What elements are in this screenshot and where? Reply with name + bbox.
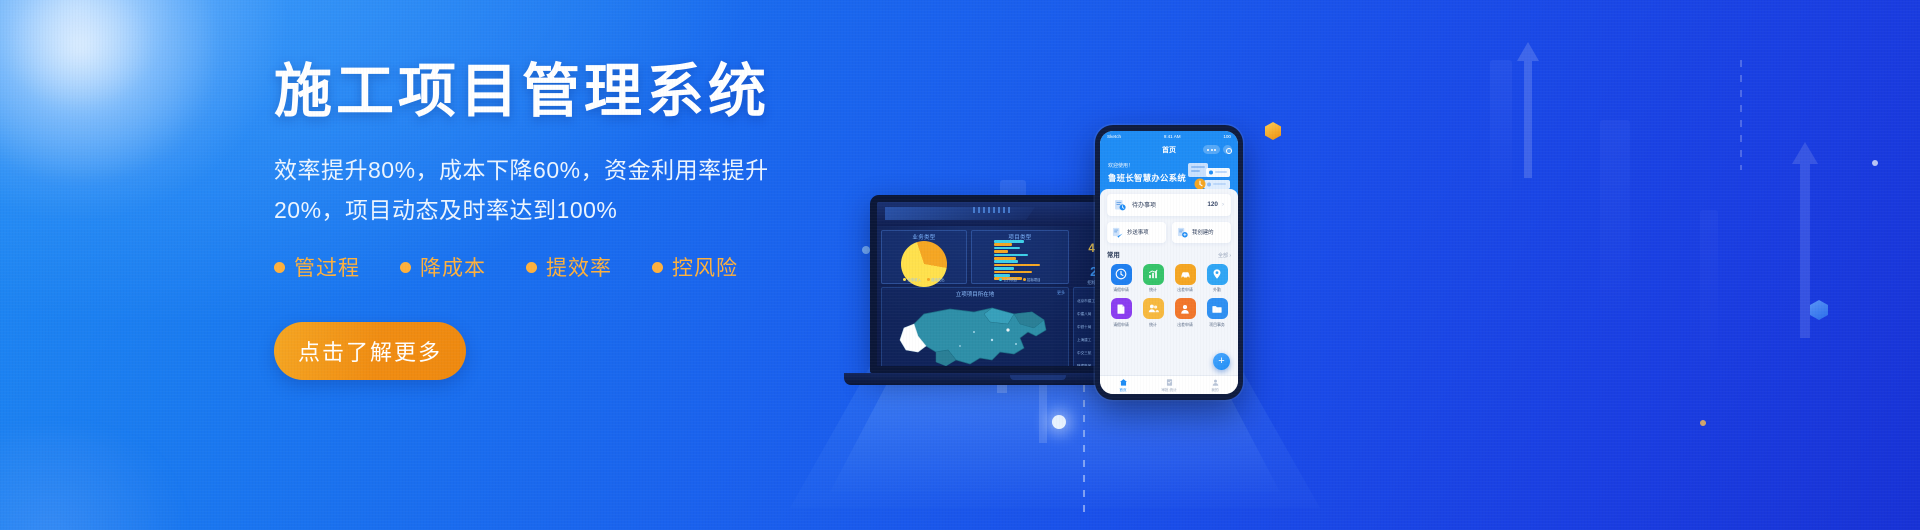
bar-legend-1: 公开项目 [1003, 278, 1017, 282]
map-title: 立项项目所在地 [882, 290, 1068, 298]
pin-icon [1207, 264, 1228, 285]
tab-approve[interactable]: 审批 统计 [1146, 378, 1192, 393]
app-tile-8[interactable]: 项目事务 [1203, 298, 1231, 328]
rank-label-5: 中交三航 [1077, 351, 1091, 356]
horizontal-bar-chart [994, 240, 1066, 280]
china-map [896, 302, 1056, 372]
home-icon [1119, 378, 1128, 387]
add-fab-button[interactable]: + [1213, 353, 1230, 370]
pie-legend: 业务收入 费用支出 [882, 277, 966, 282]
app-tile-5[interactable]: 请假申请 [1107, 298, 1135, 328]
quick-action-created-label: 我创建的 [1192, 228, 1214, 236]
hero-subtitle: 效率提升80%，成本下降60%，资金利用率提升 20%，项目动态及时率达到100… [274, 150, 794, 230]
pie-legend-2: 费用支出 [931, 278, 945, 282]
rank-label-6: 陕建集团 [1077, 364, 1091, 369]
app-tile-7[interactable]: 出差申请 [1171, 298, 1199, 328]
bullet-dot-icon [274, 262, 285, 273]
phone-nav-title: 首页 [1162, 145, 1176, 155]
app-tile-2-label: 统计 [1139, 287, 1167, 293]
quick-action-cc-label: 抄送事项 [1127, 228, 1149, 236]
app-tile-4[interactable]: 外勤 [1203, 264, 1231, 294]
bullet-dot-icon [526, 262, 537, 273]
todo-icon [1114, 199, 1126, 211]
app-tile-3-label: 出差申请 [1171, 287, 1199, 293]
car-icon [1175, 264, 1196, 285]
app-tile-6-label: 统计 [1139, 322, 1167, 328]
phone-mockup: Sketch 9:41 AM 100 首页 欢迎使用！ 鲁班长智慧办公系统 [1095, 125, 1243, 400]
subtitle-line-2: 20%，项目动态及时率达到100% [274, 190, 794, 230]
bullet-dot-icon [652, 262, 663, 273]
deco-block-6 [60, 0, 90, 40]
bullet-label-1: 管过程 [294, 252, 360, 282]
rank-label-3: 中铁十局 [1077, 325, 1091, 330]
rank-label-4: 上海建工 [1077, 338, 1091, 343]
feature-bullets: 管过程 降成本 提效率 控风险 [274, 252, 814, 282]
tab-profile-label: 我的 [1192, 388, 1238, 393]
chevron-right-icon: › [1222, 202, 1224, 208]
todo-count: 120 [1207, 201, 1218, 208]
phone-tab-bar: 首页 审批 统计 我的 [1100, 375, 1238, 394]
doc-icon [1111, 298, 1132, 319]
todo-label: 待办事项 [1132, 200, 1207, 209]
common-section-header: 常用 全部 › [1107, 250, 1231, 259]
tab-approve-label: 审批 统计 [1146, 388, 1192, 393]
bullet-label-3: 提效率 [546, 252, 612, 282]
app-tile-8-label: 项目事务 [1203, 322, 1231, 328]
phone-body: 待办事项 120 › 抄送事项 [1100, 189, 1238, 328]
phone-status-bar: Sketch 9:41 AM 100 [1100, 131, 1238, 142]
tab-profile[interactable]: 我的 [1192, 378, 1238, 393]
learn-more-button[interactable]: 点击了解更多 [274, 322, 466, 380]
phone-nav-bar: 首页 [1100, 142, 1238, 158]
app-tile-6[interactable]: 统计 [1139, 298, 1167, 328]
todo-card[interactable]: 待办事项 120 › [1107, 194, 1231, 216]
quick-action-cc[interactable]: 抄送事项 [1107, 222, 1166, 243]
app-tile-1-label: 请假申请 [1107, 287, 1135, 293]
status-time: 9:41 AM [1164, 134, 1181, 139]
app-grid: 请假申请 统计 出差申请 [1107, 264, 1231, 328]
common-section-title: 常用 [1107, 250, 1120, 259]
add-doc-icon [1177, 227, 1188, 238]
folder-icon [1207, 298, 1228, 319]
tab-home-label: 首页 [1100, 388, 1146, 393]
bullet-item-2: 降成本 [400, 252, 486, 282]
bar-legend: 公开项目 招标项目 [972, 277, 1068, 282]
bullet-item-3: 提效率 [526, 252, 612, 282]
tab-home[interactable]: 首页 [1100, 378, 1146, 393]
status-battery: 100 [1223, 134, 1231, 139]
person-icon [1175, 298, 1196, 319]
subtitle-line-1: 效率提升80%，成本下降60%，资金利用率提升 [274, 150, 794, 190]
pie-legend-1: 业务收入 [907, 278, 921, 282]
app-tile-5-label: 请假申请 [1107, 322, 1135, 328]
card-business-type: 业务类型 业务收入 费用支出 [881, 230, 967, 284]
approve-icon [1165, 378, 1174, 387]
target-icon[interactable] [1223, 145, 1232, 154]
map-card: 立项项目所在地 更多 [881, 287, 1069, 373]
app-tile-4-label: 外勤 [1203, 287, 1231, 293]
more-icon[interactable] [1203, 145, 1220, 154]
header-ribbon [885, 207, 1035, 220]
app-tile-1[interactable]: 请假申请 [1107, 264, 1135, 294]
bar-legend-2: 招标项目 [1027, 278, 1041, 282]
bullet-item-4: 控风险 [652, 252, 738, 282]
rank-label-2: 中建八局 [1077, 312, 1091, 317]
bullet-item-1: 管过程 [274, 252, 360, 282]
glow-top-left [0, 0, 230, 180]
glow-bottom-left [0, 430, 210, 530]
quick-action-created[interactable]: 我创建的 [1172, 222, 1231, 243]
user-icon [1211, 378, 1220, 387]
clock-icon [1111, 264, 1132, 285]
phone-nav-actions [1203, 145, 1232, 154]
phone-screen: Sketch 9:41 AM 100 首页 欢迎使用！ 鲁班长智慧办公系统 [1100, 131, 1238, 394]
app-tile-2[interactable]: 统计 [1139, 264, 1167, 294]
laptop-notch [1010, 375, 1066, 380]
bullet-label-4: 控风险 [672, 252, 738, 282]
app-tile-7-label: 出差申请 [1171, 322, 1199, 328]
hero-banner: 施工项目管理系统 效率提升80%，成本下降60%，资金利用率提升 20%，项目动… [0, 0, 1920, 530]
send-icon [1112, 227, 1123, 238]
chart-icon [1143, 264, 1164, 285]
card-title-business-type: 业务类型 [882, 233, 966, 241]
status-carrier: Sketch [1107, 134, 1121, 139]
common-section-more[interactable]: 全部 › [1218, 252, 1231, 259]
bullet-label-2: 降成本 [420, 252, 486, 282]
app-tile-3[interactable]: 出差申请 [1171, 264, 1199, 294]
bullet-dot-icon [400, 262, 411, 273]
quick-actions: 抄送事项 我创建的 [1107, 222, 1231, 243]
people-icon [1143, 298, 1164, 319]
device-stage: 市场管理报表 业务类型 业务收入 费用支出 项目类型 [770, 0, 1920, 530]
map-more-link[interactable]: 更多 [1057, 290, 1065, 296]
card-project-type: 项目类型 公开项目 招标项目 [971, 230, 1069, 284]
